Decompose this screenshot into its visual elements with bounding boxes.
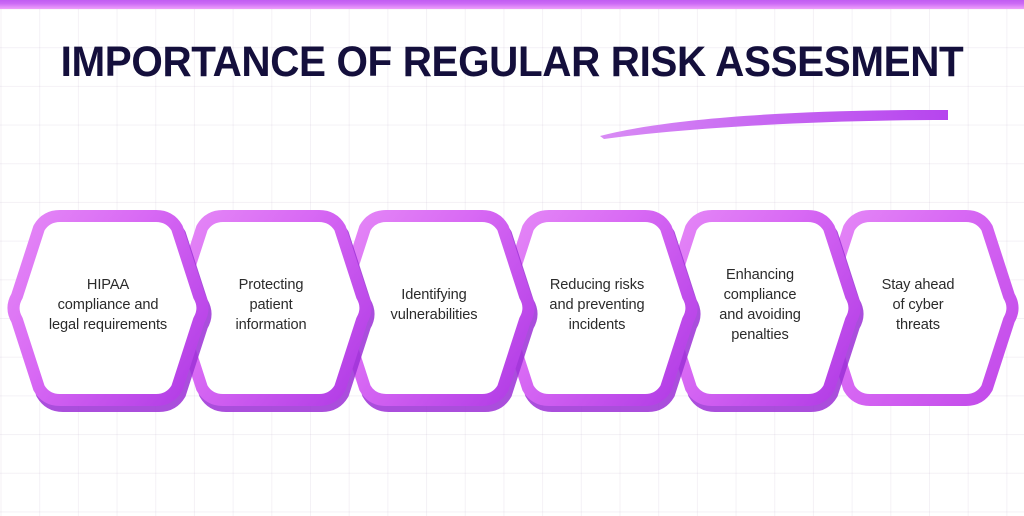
title-block: IMPORTANCE OF REGULAR RISK ASSESMENT xyxy=(0,36,1024,114)
hexagon-step-row: HIPAA compliance and legal requirements … xyxy=(0,200,1024,410)
step-label-1: HIPAA compliance and legal requirements xyxy=(32,200,184,410)
step-label-line: compliance and xyxy=(49,295,167,315)
step-label-2: Protecting patient information xyxy=(195,200,347,410)
step-hexagon-1[interactable]: HIPAA compliance and legal requirements xyxy=(10,200,206,410)
step-label-6: Stay ahead of cyber threats xyxy=(842,200,994,410)
step-label-line: compliance xyxy=(719,285,801,305)
page-title: IMPORTANCE OF REGULAR RISK ASSESMENT xyxy=(31,36,994,88)
step-label-3: Identifying vulnerabilities xyxy=(358,200,510,410)
step-label-line: legal requirements xyxy=(49,315,167,335)
step-label-line: incidents xyxy=(549,315,644,335)
top-accent-bar xyxy=(0,0,1024,9)
step-label-line: of cyber xyxy=(882,295,955,315)
step-label-line: patient xyxy=(235,295,306,315)
step-label-line: and preventing xyxy=(549,295,644,315)
step-label-line: HIPAA xyxy=(49,275,167,295)
step-label-line: Stay ahead xyxy=(882,275,955,295)
step-label-line: threats xyxy=(882,315,955,335)
step-label-5: Enhancing compliance and avoiding penalt… xyxy=(684,200,836,410)
step-label-line: penalties xyxy=(719,325,801,345)
step-label-line: Identifying xyxy=(391,285,478,305)
step-label-4: Reducing risks and preventing incidents xyxy=(521,200,673,410)
step-label-line: information xyxy=(235,315,306,335)
title-swoosh-decoration xyxy=(598,110,950,140)
step-label-line: and avoiding xyxy=(719,305,801,325)
step-label-line: Enhancing xyxy=(719,265,801,285)
step-label-line: Reducing risks xyxy=(549,275,644,295)
step-label-line: vulnerabilities xyxy=(391,305,478,325)
step-label-line: Protecting xyxy=(235,275,306,295)
